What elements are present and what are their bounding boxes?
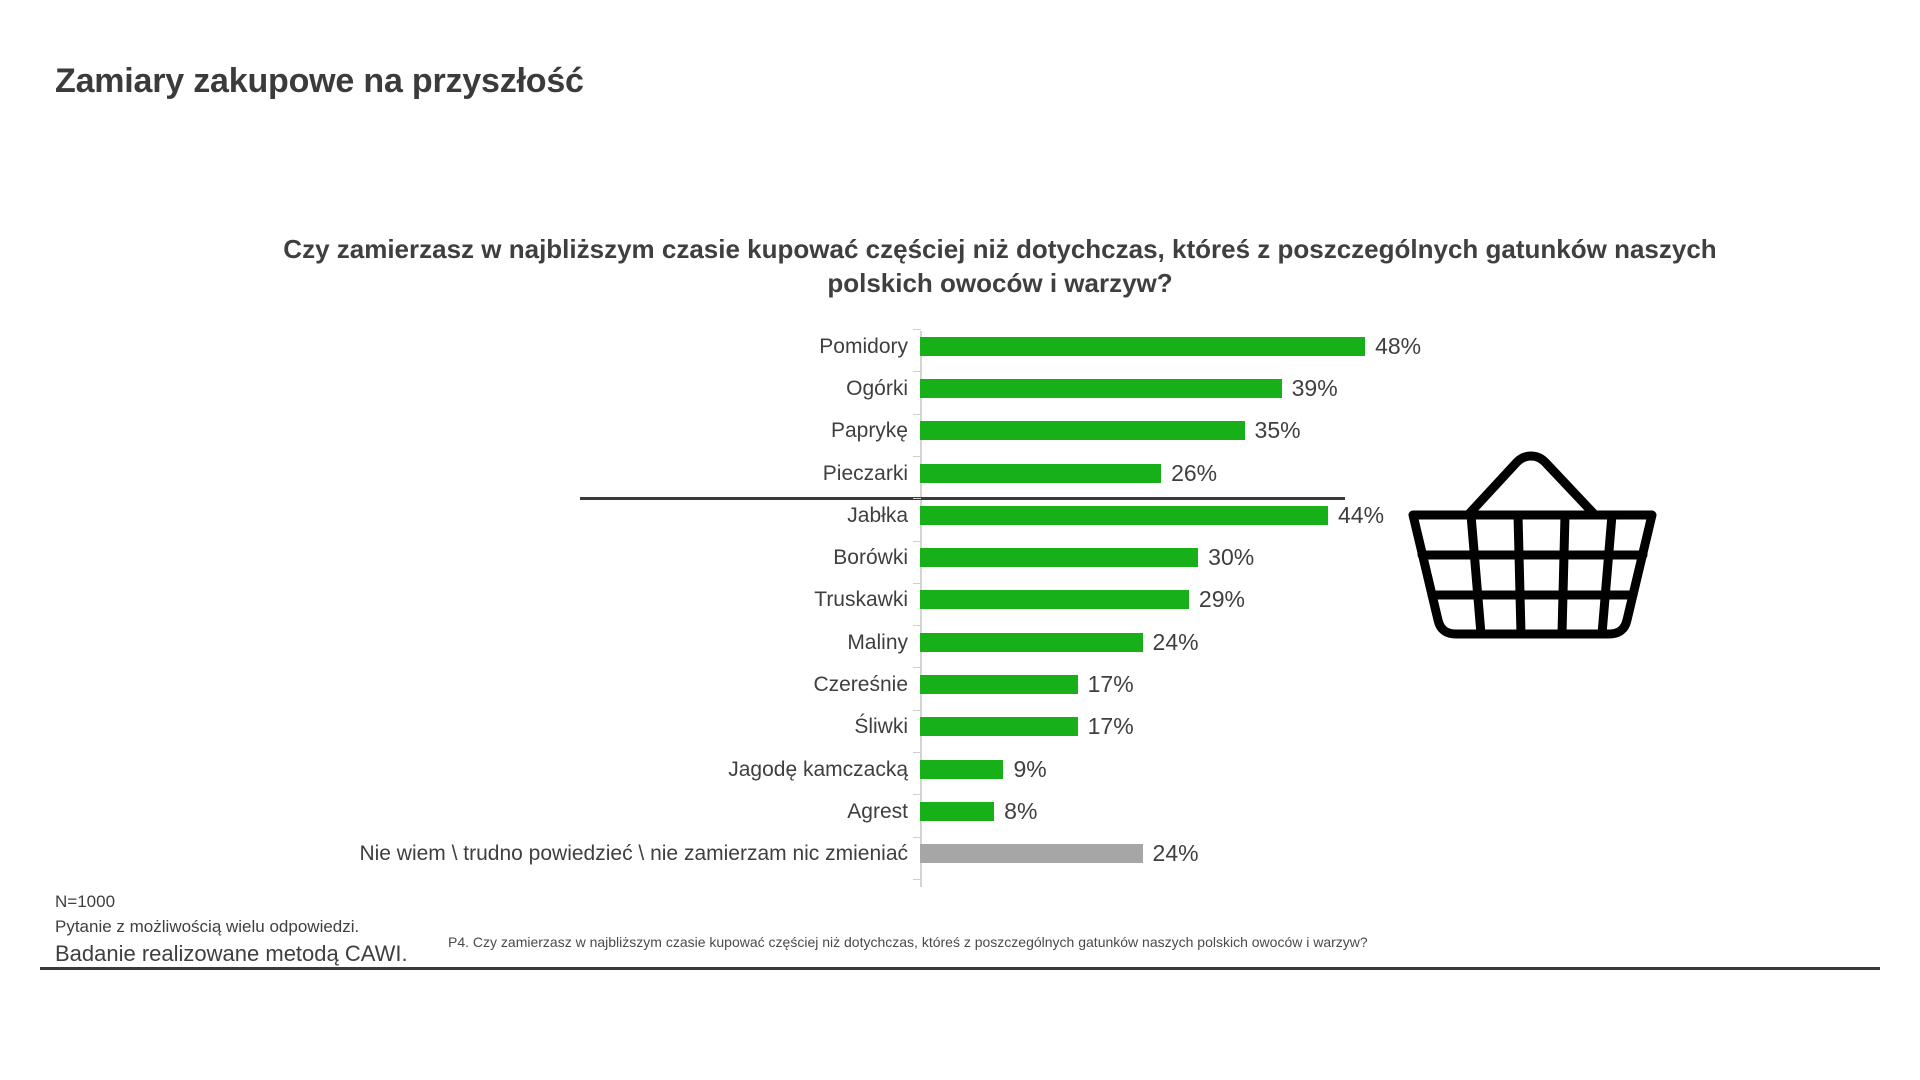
bar-category-label: Ogórki: [330, 378, 920, 399]
bar-value-label: 8%: [1004, 800, 1037, 823]
bar-row: Jagodę kamczacką9%: [330, 748, 1450, 790]
bar: [920, 548, 1198, 567]
logo-strip: KANTAR Krajowy Związek Grup Producentów …: [0, 975, 1920, 1080]
bar-row: Czereśnie17%: [330, 663, 1450, 705]
axis-tick: [913, 710, 921, 711]
axis-tick: [913, 456, 921, 457]
axis-tick: [913, 541, 921, 542]
bar-track: 39%: [920, 367, 1450, 409]
bar-category-label: Pieczarki: [330, 463, 920, 484]
bar-row: Maliny24%: [330, 621, 1450, 663]
bar-track: 17%: [920, 706, 1450, 748]
bar: [920, 675, 1078, 694]
bar-track: 26%: [920, 452, 1450, 494]
bar-track: 44%: [920, 494, 1450, 536]
chart-question-title: Czy zamierzasz w najbliższym czasie kupo…: [250, 232, 1750, 301]
bar-row: Ogórki39%: [330, 367, 1450, 409]
slide: Zamiary zakupowe na przyszłość Czy zamie…: [0, 0, 1920, 1080]
axis-tick: [913, 583, 921, 584]
bar-row: Borówki30%: [330, 536, 1450, 578]
footer-divider: [40, 967, 1880, 970]
axis-tick: [913, 837, 921, 838]
bar-chart: Pomidory48%Ogórki39%Paprykę35%Pieczarki2…: [330, 325, 1450, 895]
bar-row: Pieczarki26%: [330, 452, 1450, 494]
axis-tick: [913, 625, 921, 626]
bar-track: 35%: [920, 410, 1450, 452]
bar-value-label: 24%: [1153, 631, 1199, 654]
bar-track: 17%: [920, 663, 1450, 705]
page-title: Zamiary zakupowe na przyszłość: [55, 62, 584, 101]
axis-tick: [913, 667, 921, 668]
bar-category-label: Jabłka: [330, 505, 920, 526]
bar-category-label: Agrest: [330, 801, 920, 822]
bar-track: 24%: [920, 833, 1450, 875]
footnote-multi-answer: Pytanie z możliwością wielu odpowiedzi.: [55, 915, 408, 940]
footnote-method: Badanie realizowane metodą CAWI.: [55, 939, 408, 970]
footnote-sample-size: N=1000: [55, 890, 408, 915]
bar-category-label: Śliwki: [330, 716, 920, 737]
bar: [920, 337, 1365, 356]
bar-value-label: 35%: [1255, 419, 1301, 442]
bar: [920, 844, 1143, 863]
bar-track: 24%: [920, 621, 1450, 663]
bar-row: Jabłka44%: [330, 494, 1450, 536]
bar-value-label: 29%: [1199, 588, 1245, 611]
axis-tick: [913, 498, 921, 499]
bar-category-label: Paprykę: [330, 420, 920, 441]
bar-row: Pomidory48%: [330, 325, 1450, 367]
bar-category-label: Borówki: [330, 547, 920, 568]
axis-tick: [913, 329, 921, 330]
bar: [920, 590, 1189, 609]
bar-value-label: 30%: [1208, 546, 1254, 569]
bar-category-label: Jagodę kamczacką: [330, 759, 920, 780]
bar: [920, 506, 1328, 525]
bar-category-label: Nie wiem \ trudno powiedzieć \ nie zamie…: [330, 843, 920, 864]
bar-track: 29%: [920, 579, 1450, 621]
axis-tick: [913, 414, 921, 415]
axis-tick: [913, 879, 921, 880]
bar-value-label: 17%: [1088, 673, 1134, 696]
bar-row: Agrest8%: [330, 790, 1450, 832]
shopping-basket-icon: [1405, 450, 1660, 650]
bar: [920, 633, 1143, 652]
bar-row: Truskawki29%: [330, 579, 1450, 621]
bar-track: 9%: [920, 748, 1450, 790]
bar-category-label: Maliny: [330, 632, 920, 653]
axis-tick: [913, 371, 921, 372]
footnote-question-p4: P4. Czy zamierzasz w najbliższym czasie …: [448, 934, 1368, 950]
axis-tick: [913, 794, 921, 795]
axis-tick: [913, 752, 921, 753]
bar: [920, 379, 1282, 398]
bar-value-label: 24%: [1153, 842, 1199, 865]
bar-row: Śliwki17%: [330, 706, 1450, 748]
bar-category-label: Pomidory: [330, 336, 920, 357]
bar-value-label: 48%: [1375, 335, 1421, 358]
bar: [920, 421, 1245, 440]
bar: [920, 802, 994, 821]
bar: [920, 717, 1078, 736]
bar-value-label: 44%: [1338, 504, 1384, 527]
bar-value-label: 9%: [1013, 758, 1046, 781]
bar-value-label: 26%: [1171, 462, 1217, 485]
bar-value-label: 39%: [1292, 377, 1338, 400]
bar-category-label: Czereśnie: [330, 674, 920, 695]
bar-track: 8%: [920, 790, 1450, 832]
bar-row: Paprykę35%: [330, 410, 1450, 452]
bar-row: Nie wiem \ trudno powiedzieć \ nie zamie…: [330, 833, 1450, 875]
bar-rows-container: Pomidory48%Ogórki39%Paprykę35%Pieczarki2…: [330, 325, 1450, 895]
bar: [920, 760, 1003, 779]
bar-track: 30%: [920, 536, 1450, 578]
bar-value-label: 17%: [1088, 715, 1134, 738]
bar-track: 48%: [920, 325, 1450, 367]
footnotes: N=1000 Pytanie z możliwością wielu odpow…: [55, 890, 408, 970]
bar-category-label: Truskawki: [330, 589, 920, 610]
bar: [920, 464, 1161, 483]
